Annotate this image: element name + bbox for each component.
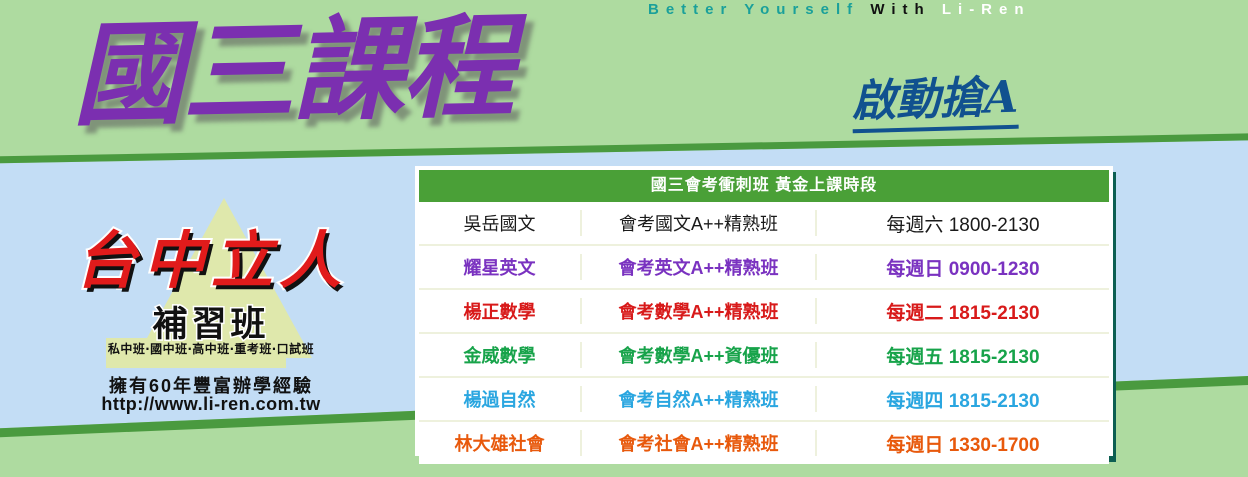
schedule-table-header: 國三會考衝刺班 黃金上課時段 [419,170,1109,202]
logo-class-categories: 私中班‧國中班‧高中班‧重考班‧口試班 [28,340,394,357]
cell-course: 會考國文A++精熟班 [582,210,817,236]
cell-time: 每週四 1815-2130 [817,386,1109,413]
page-title: 國三課程 [71,11,513,132]
cell-time: 每週日 1330-1700 [817,430,1109,457]
tagline-part-1: Better Yourself [648,1,859,18]
tagline: Better Yourself With Li-Ren [648,1,1031,18]
cell-teacher: 金威數學 [419,342,582,368]
cell-teacher: 耀星英文 [419,254,582,280]
cell-time: 每週六 1800-2130 [817,210,1109,237]
cell-time: 每週二 1815-2130 [817,298,1109,325]
cell-teacher: 楊過自然 [419,386,582,412]
table-row: 吳岳國文會考國文A++精熟班每週六 1800-2130 [419,202,1109,246]
tagline-part-2: With [870,1,930,18]
cell-course: 會考數學A++精熟班 [582,298,817,324]
table-row: 楊過自然會考自然A++精熟班每週四 1815-2130 [419,378,1109,422]
cell-time: 每週五 1815-2130 [817,342,1109,369]
schedule-table: 國三會考衝刺班 黃金上課時段 吳岳國文會考國文A++精熟班每週六 1800-21… [415,166,1113,456]
page-subtitle: 啟動搶A [851,76,1019,134]
table-row: 林大雄社會會考社會A++精熟班每週日 1330-1700 [419,422,1109,464]
cell-teacher: 林大雄社會 [419,430,582,456]
cell-course: 會考自然A++精熟班 [582,386,817,412]
table-row: 金威數學會考數學A++資優班每週五 1815-2130 [419,334,1109,378]
brand-logo: 台中立人 補習班 私中班‧國中班‧高中班‧重考班‧口試班 擁有60年豐富辦學經驗… [18,188,398,423]
table-row: 楊正數學會考數學A++精熟班每週二 1815-2130 [419,290,1109,334]
cell-time: 每週日 0900-1230 [817,254,1109,281]
tagline-part-3: Li-Ren [942,1,1031,18]
schedule-table-body: 吳岳國文會考國文A++精熟班每週六 1800-2130耀星英文會考英文A++精熟… [419,202,1109,464]
cell-course: 會考社會A++精熟班 [582,430,817,456]
table-row: 耀星英文會考英文A++精熟班每週日 0900-1230 [419,246,1109,290]
cell-course: 會考英文A++精熟班 [582,254,817,280]
cell-teacher: 吳岳國文 [419,210,582,236]
cell-course: 會考數學A++資優班 [582,342,817,368]
logo-brand-name: 台中立人 [28,210,394,300]
poster-canvas: Better Yourself With Li-Ren 國三課程 啟動搶A 台中… [0,0,1248,477]
logo-website-url: http://www.li-ren.com.tw [28,394,394,415]
cell-teacher: 楊正數學 [419,298,582,324]
